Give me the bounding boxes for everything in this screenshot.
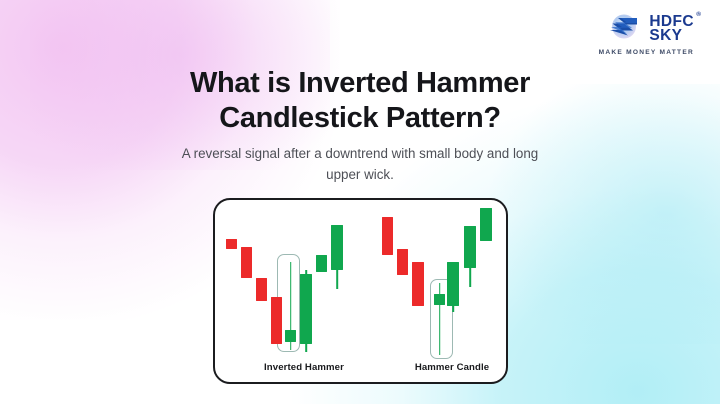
candlestick-bull-2	[316, 200, 327, 384]
candle-body	[256, 278, 267, 301]
candlestick-bear-3	[412, 200, 424, 384]
brand-tagline: MAKE MONEY MATTER	[599, 49, 694, 56]
page-title: What is Inverted Hammer Candlestick Patt…	[0, 66, 720, 136]
hdfc-sky-swoosh-icon	[608, 14, 642, 44]
candle-body	[285, 330, 296, 342]
candlestick-bear-1	[382, 200, 393, 384]
brand-logo: HDFC SKY ® MAKE MONEY MATTER	[599, 14, 694, 56]
pattern-label-2: Hammer Candle	[397, 362, 507, 373]
candle-body	[447, 262, 459, 306]
candlestick-bull-1	[300, 200, 312, 384]
candlestick-bear-2	[397, 200, 408, 384]
candle-body	[434, 294, 445, 305]
candlestick-bear-4	[271, 200, 282, 384]
slide-canvas: HDFC SKY ® MAKE MONEY MATTER What is Inv…	[0, 0, 720, 404]
candlestick-inverted-hammer	[285, 200, 296, 384]
candlestick-bear-3	[256, 200, 267, 384]
pattern-label-1: Inverted Hammer	[249, 362, 359, 373]
candlestick-bull-1	[447, 200, 459, 384]
candle-body	[331, 225, 343, 270]
candle-body	[241, 247, 252, 278]
candle-body	[382, 217, 393, 255]
registered-mark: ®	[696, 12, 701, 18]
page-subtitle-line2: upper wick.	[0, 164, 720, 185]
candlestick-plot: Inverted HammerHammer Candle	[215, 200, 506, 382]
candlestick-bear-2	[241, 200, 252, 384]
candlestick-bull-2	[464, 200, 476, 384]
candle-body	[480, 208, 492, 241]
candle-body	[300, 274, 312, 344]
brand-logo-row: HDFC SKY ®	[599, 14, 694, 44]
candlestick-bull-3	[480, 200, 492, 384]
candlestick-hammer	[434, 200, 445, 384]
brand-wordmark: HDFC SKY ®	[649, 15, 694, 44]
candle-body	[271, 297, 282, 344]
candlestick-bear-1	[226, 200, 237, 384]
candle-body	[464, 226, 476, 268]
candle-body	[397, 249, 408, 275]
candlestick-chart-card: Inverted HammerHammer Candle	[213, 198, 508, 384]
candlestick-bull-3	[331, 200, 343, 384]
page-title-line2: Candlestick Pattern?	[0, 101, 720, 136]
page-subtitle-line1: A reversal signal after a downtrend with…	[0, 143, 720, 164]
candle-body	[226, 239, 237, 249]
candle-body	[412, 262, 424, 306]
page-title-line1: What is Inverted Hammer	[0, 66, 720, 101]
page-subtitle: A reversal signal after a downtrend with…	[0, 143, 720, 185]
brand-name-line2: SKY	[649, 29, 694, 43]
candle-body	[316, 255, 327, 272]
